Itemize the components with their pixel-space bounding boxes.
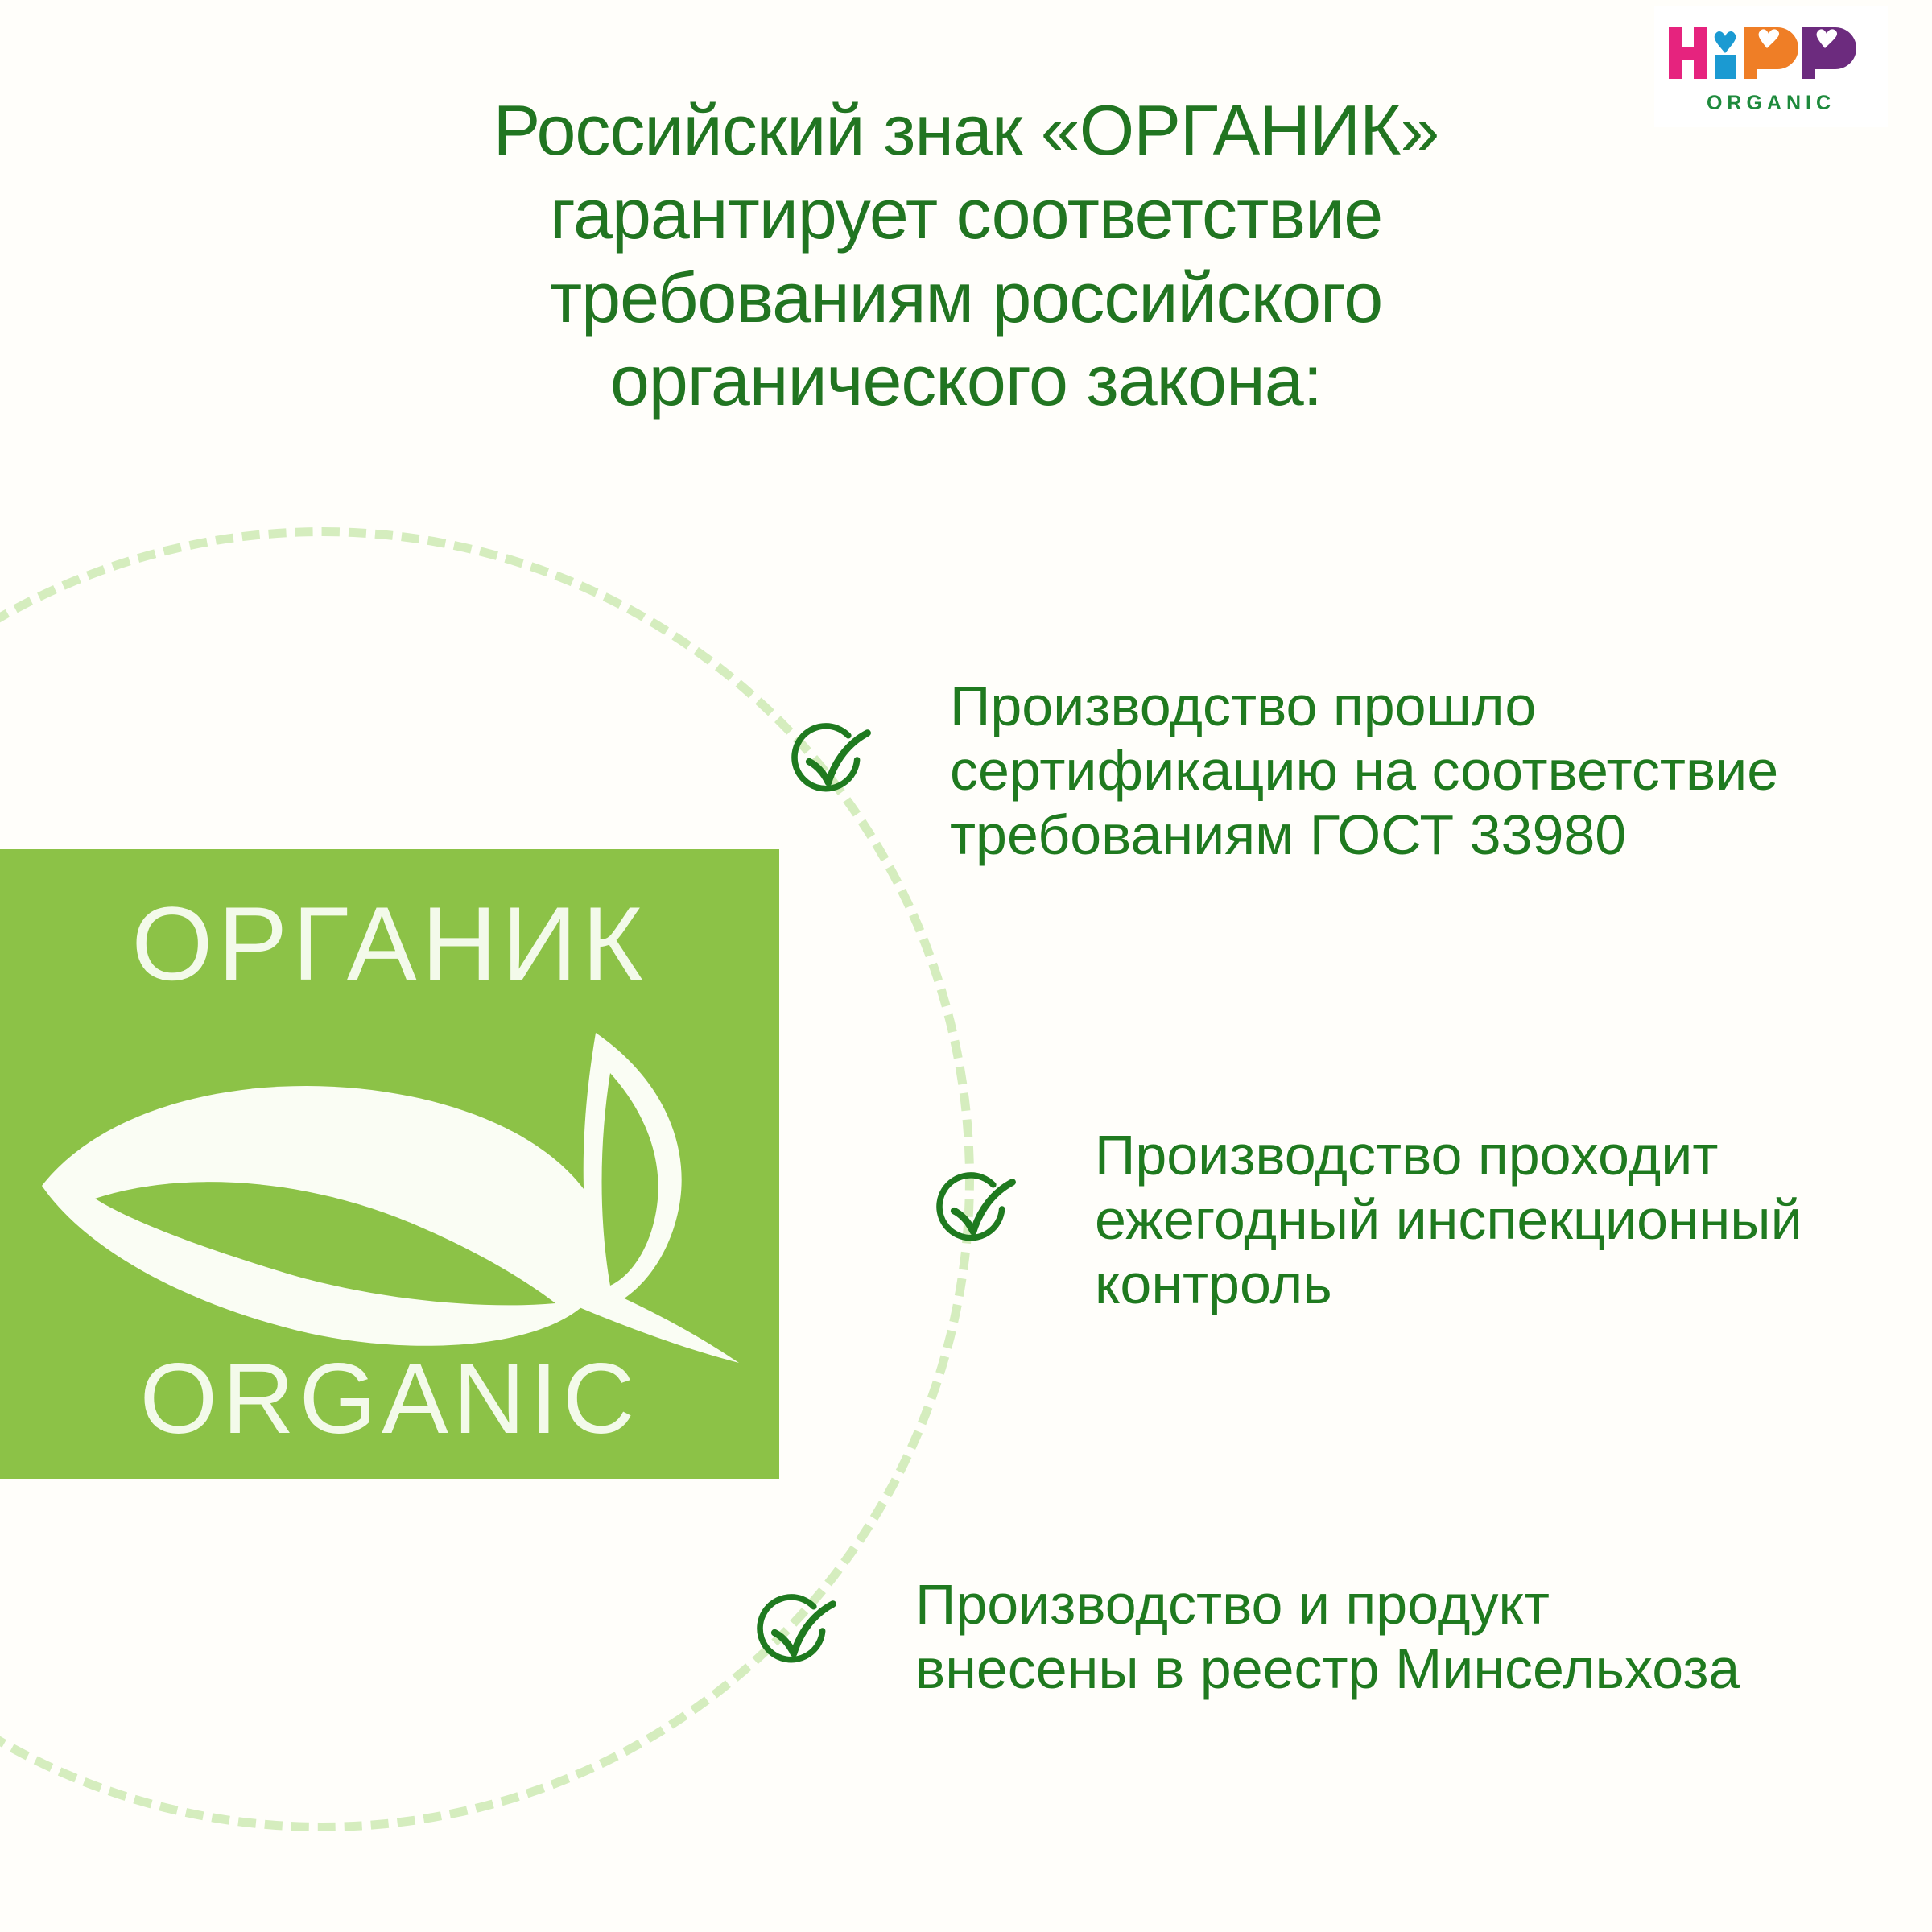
title-line-1: Российский знак «ОРГАНИК»: [242, 89, 1690, 172]
title-line-4: органического закона:: [242, 339, 1690, 423]
bullet-text-2: Производство проходит ежегодный инспекци…: [1095, 1124, 1908, 1316]
infographic-page: ORGANIC Российский знак «ОРГАНИК» гарант…: [0, 0, 1932, 1932]
check-circle-icon: [930, 1166, 1017, 1253]
check-circle-icon: [750, 1587, 837, 1674]
bullet-text-3: Производство и продукт внесены в реестр …: [915, 1573, 1905, 1702]
title-line-3: требованиям российского: [242, 256, 1690, 340]
badge-label-ru: ОРГАНИК: [0, 883, 779, 1004]
title-line-2: гарантирует соответствие: [242, 172, 1690, 256]
organic-mark-badge: ОРГАНИК ORGANIC: [0, 849, 779, 1479]
bullet-text-1: Производство прошло сертификацию на соот…: [950, 675, 1904, 867]
check-circle-icon: [785, 716, 872, 803]
badge-label-en: ORGANIC: [0, 1342, 779, 1456]
hipp-wordmark-icon: [1669, 24, 1875, 82]
leaf-icon: [32, 1026, 749, 1364]
page-title: Российский знак «ОРГАНИК» гарантирует со…: [242, 89, 1690, 423]
